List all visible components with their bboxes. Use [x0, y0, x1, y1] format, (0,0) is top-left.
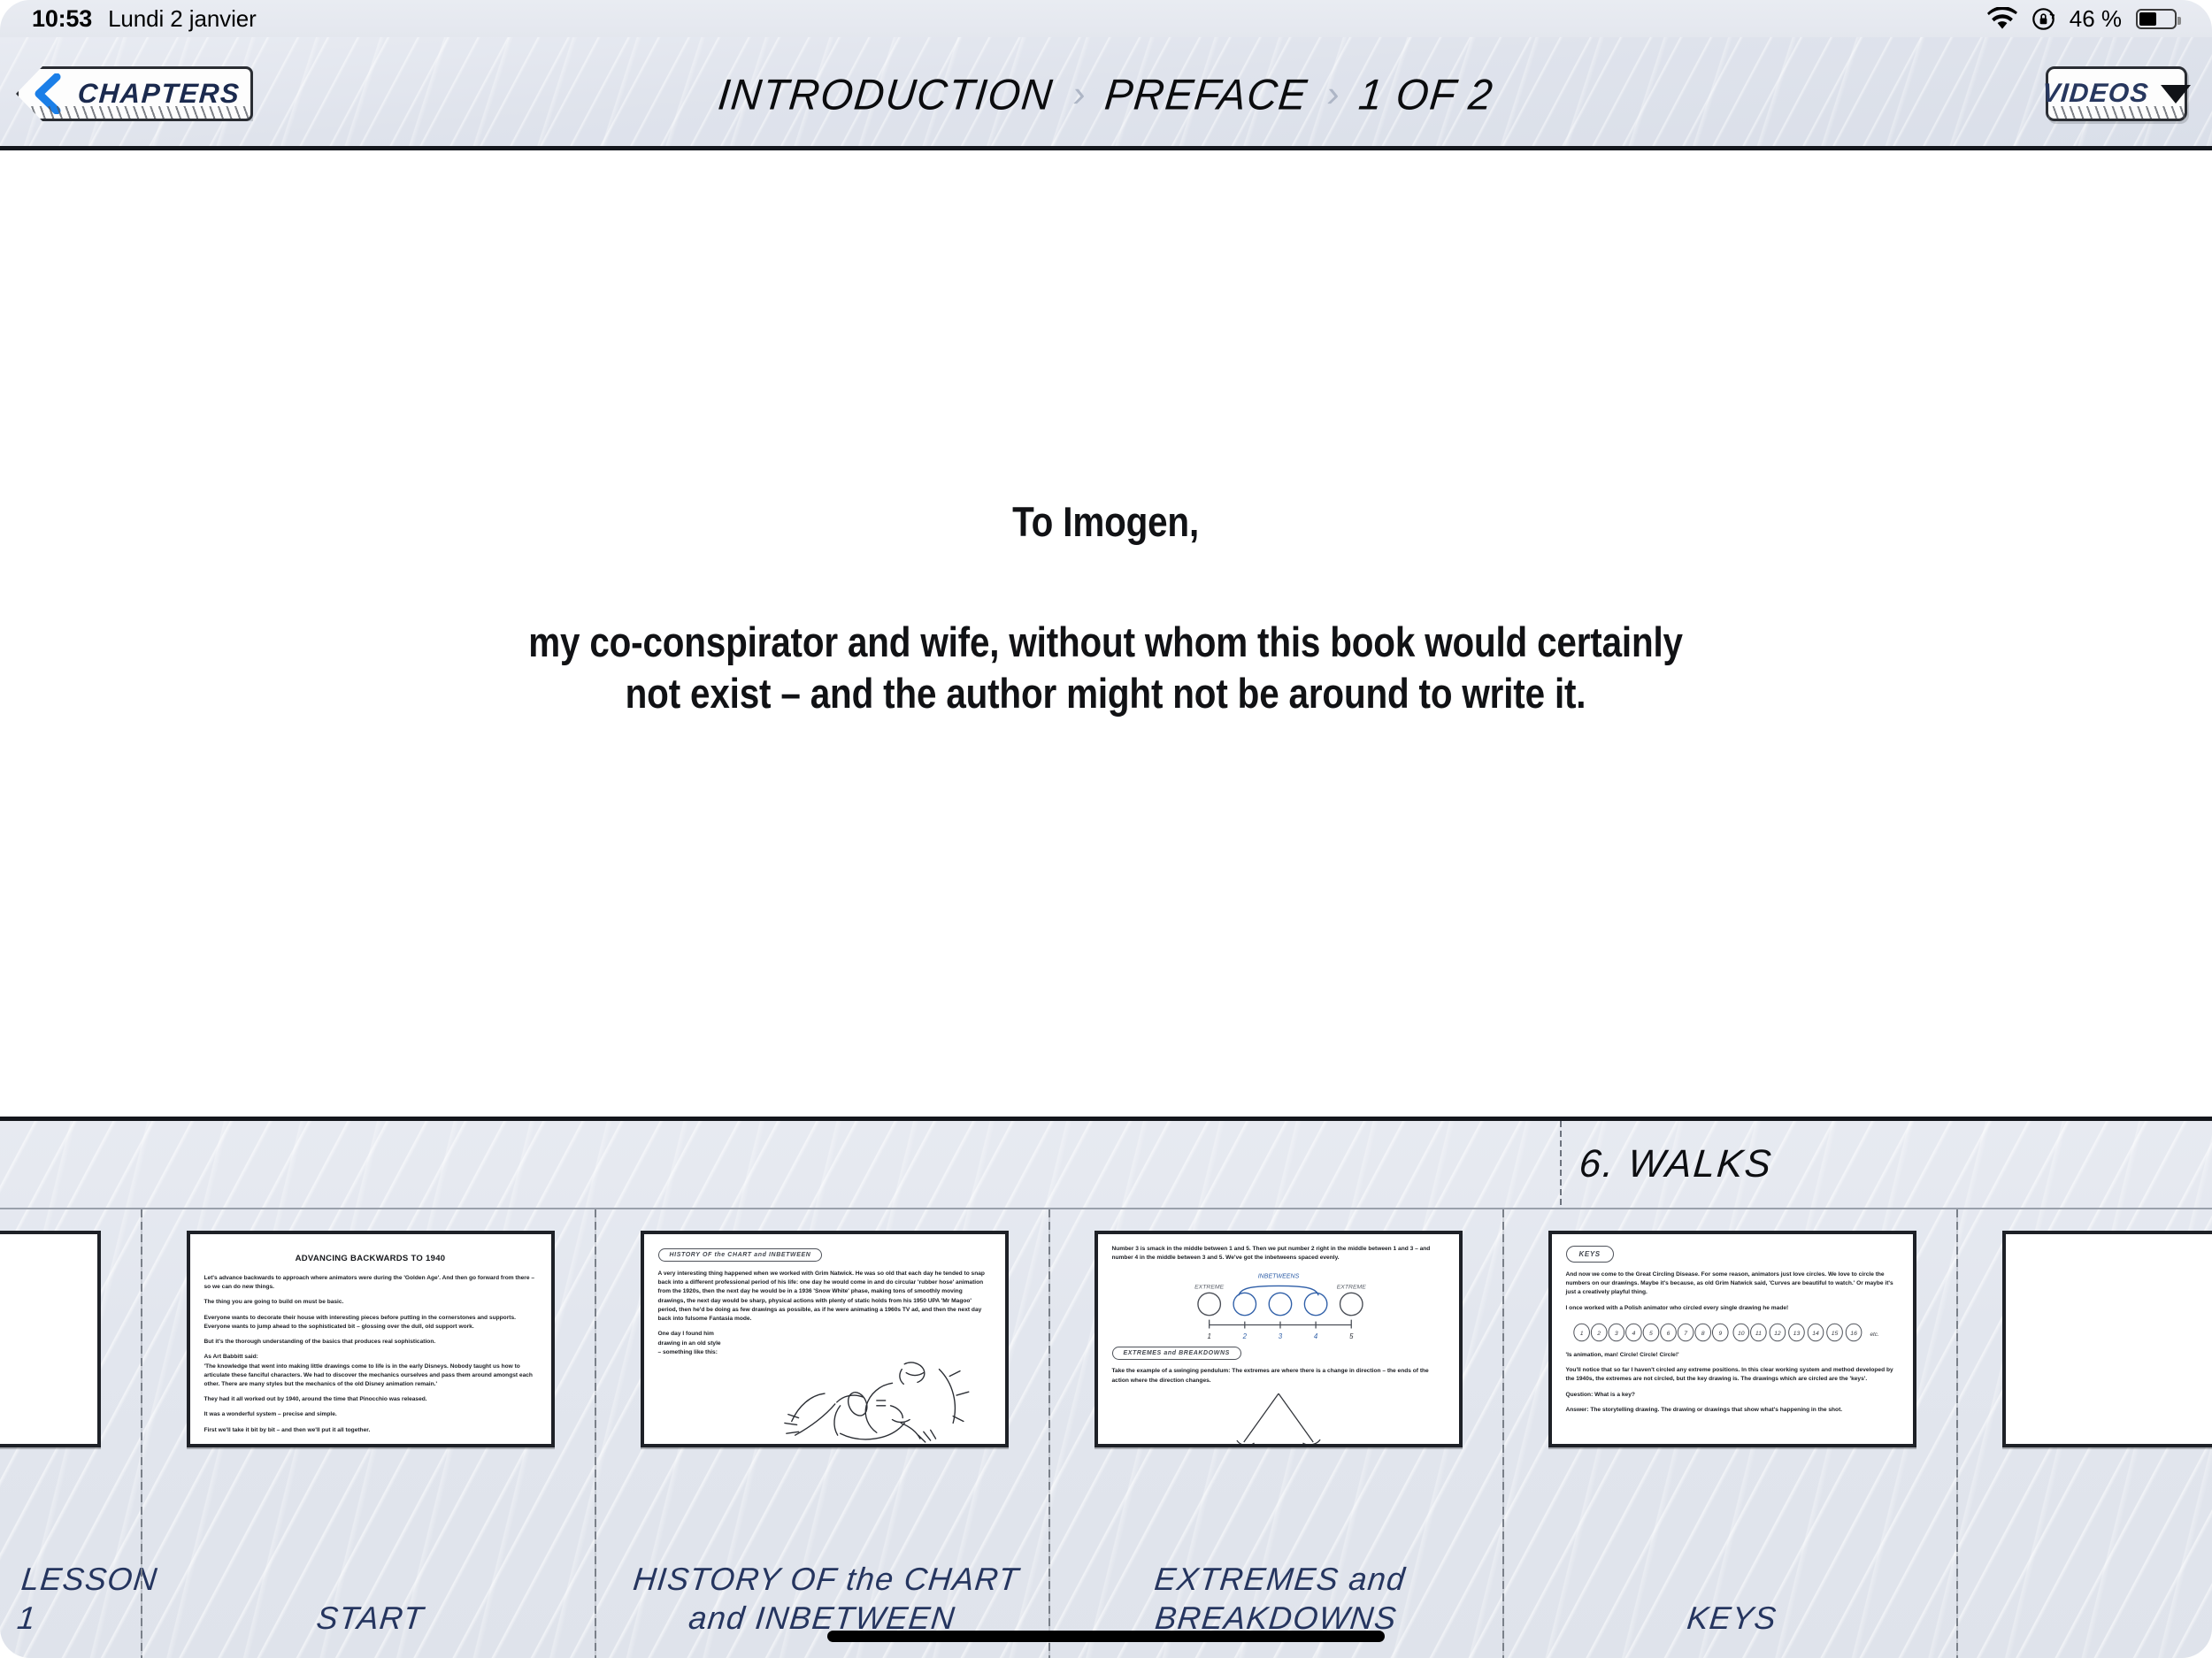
thumbnail-cell-start[interactable]: ADVANCING BACKWARDS TO 1940 Let's advanc… [144, 1209, 598, 1658]
svg-text:INBETWEENS: INBETWEENS [1257, 1274, 1299, 1280]
svg-text:4: 4 [1632, 1331, 1635, 1337]
thumbnail-cell-extremes-and-breakdowns[interactable]: Number 3 is smack in the middle between … [1052, 1209, 1506, 1658]
page-thumbnail[interactable]: ADVANCING BACKWARDS TO 1940 Let's advanc… [187, 1231, 555, 1447]
thumb-title: ADVANCING BACKWARDS TO 1940 [204, 1254, 537, 1263]
thumb-paragraph: 'Is animation, man! Circle! Circle! Circ… [1566, 1351, 1899, 1360]
sketch-hatching [2048, 106, 2185, 119]
thumb-paragraph: tists. I had the habit of listening to c… [0, 1305, 83, 1314]
svg-text:10: 10 [1737, 1331, 1744, 1337]
svg-text:4: 4 [1313, 1333, 1317, 1341]
dedication-block: To Imogen, my co-conspirator and wife, w… [0, 150, 2212, 1117]
thumbnail-label: START [142, 1599, 599, 1638]
thumb-paragraph: A very interesting thing happened when w… [658, 1270, 991, 1324]
svg-text:3: 3 [1614, 1331, 1617, 1337]
thumb-section-bubble: KEYS [1566, 1246, 1614, 1263]
battery-percent: 46 % [2070, 5, 2122, 33]
circled-numbers-row: 123 456 789 101112 131415 16 etc. [1566, 1319, 1899, 1346]
thumb-paragraph: One day I found him drawing in an old st… [658, 1330, 991, 1357]
thumb-paragraph: Question: What is a key? [1566, 1391, 1899, 1400]
section-divider-tick [1560, 1121, 1562, 1208]
page-thumbnail-filmstrip[interactable]: 6. WALKS ONE e off your head phones! Tur… [0, 1117, 2212, 1658]
svg-text:EXTREME: EXTREME [1336, 1285, 1366, 1291]
ipad-screen: 10:53 Lundi 2 janvier 46 % [0, 0, 2212, 1658]
videos-button-label: VIDEOS [2040, 79, 2150, 109]
thumb-paragraph: 'The knowledge that went into making lit… [204, 1362, 537, 1390]
thumb-paragraph: Take the example of a swinging pendulum:… [1112, 1367, 1445, 1385]
svg-text:2: 2 [1596, 1331, 1601, 1337]
caret-down-icon [2161, 85, 2191, 104]
home-indicator[interactable] [827, 1631, 1385, 1642]
chapters-button-label: CHAPTERS [77, 78, 242, 110]
breadcrumb-separator: › [1325, 73, 1341, 115]
thumb-paragraph: I once worked with a Polish animator who… [1566, 1304, 1899, 1313]
thumb-paragraph: Let's advance backwards to approach wher… [204, 1274, 537, 1292]
svg-text:etc.: etc. [1870, 1332, 1878, 1338]
videos-dropdown-button[interactable]: VIDEOS [2046, 66, 2187, 121]
svg-text:5: 5 [1349, 1333, 1354, 1341]
thumb-paragraph: Answer: The storytelling drawing. The dr… [1566, 1406, 1899, 1415]
page-thumbnail[interactable]: KEYS And now we come to the Great Circli… [1548, 1231, 1916, 1447]
thumbnail-label: KEYS [1504, 1599, 1961, 1638]
thumb-paragraph: They had it all worked out by 1940, arou… [204, 1395, 537, 1404]
thumb-paragraph: Number 3 is smack in the middle between … [1112, 1245, 1445, 1263]
svg-text:7: 7 [1684, 1331, 1688, 1337]
thumb-paragraph: The thing you are going to build on must… [204, 1298, 537, 1307]
thumbnail-cell-lesson-1[interactable]: ONE e off your head phones! Turn off the… [0, 1209, 144, 1658]
cartoon-character-sketch-icon [644, 1355, 1005, 1444]
thumb-paragraph: But it's the thorough understanding of t… [204, 1338, 537, 1347]
breadcrumb: INTRODUCTION › PREFACE › 1 OF 2 [0, 37, 2212, 150]
thumb-paragraph: As Art Babbitt said: [204, 1353, 537, 1362]
svg-text:EXTREME: EXTREME [1194, 1285, 1225, 1291]
breadcrumb-item-page: 1 OF 2 [1356, 68, 1496, 119]
breadcrumb-item-introduction[interactable]: INTRODUCTION [716, 68, 1056, 119]
thumbnail-label: LESSON 1 [0, 1560, 147, 1638]
page-thumbnail[interactable] [2002, 1231, 2212, 1447]
svg-text:1: 1 [1207, 1333, 1210, 1341]
svg-text:15: 15 [1831, 1331, 1838, 1337]
thumb-section-bubble: EXTREMES and BREAKDOWNS [1112, 1347, 1241, 1360]
thumbnail-cell-keys[interactable]: KEYS And now we come to the Great Circli… [1506, 1209, 1960, 1658]
thumbnail-label: HISTORY OF the CHART and INBETWEEN [594, 1560, 1054, 1638]
status-bar-left: 10:53 Lundi 2 janvier [32, 5, 257, 33]
dedication-body: my co-conspirator and wife, without whom… [529, 617, 1684, 718]
status-time: 10:53 [32, 5, 92, 33]
pendulum-triangle-icon [1098, 1391, 1459, 1444]
svg-text:12: 12 [1774, 1331, 1781, 1337]
filmstrip-cells: ONE e off your head phones! Turn off the… [0, 1209, 2212, 1658]
thumb-paragraph: You'll notice that so far I haven't circ… [1566, 1366, 1899, 1384]
thumb-section-bubble: HISTORY OF the CHART and INBETWEEN [658, 1248, 823, 1262]
svg-text:9: 9 [1718, 1331, 1722, 1337]
page-thumbnail[interactable]: HISTORY OF the CHART and INBETWEEN A ver… [641, 1231, 1009, 1447]
thumbnail-cell-history-of-the-chart[interactable]: HISTORY OF the CHART and INBETWEEN A ver… [598, 1209, 1052, 1658]
svg-text:8: 8 [1701, 1331, 1704, 1337]
thumbnail-label: EXTREMES and BREAKDOWNS [1048, 1560, 1508, 1638]
svg-text:6: 6 [1666, 1331, 1670, 1337]
rotation-lock-icon [2032, 7, 2055, 31]
inbetweens-diagram: INBETWEENS EXTREME EXTREME [1112, 1269, 1445, 1341]
page-content[interactable]: To Imogen, my co-conspirator and wife, w… [0, 150, 2212, 1117]
thumb-paragraph: First we'll take it bit by bit – and the… [204, 1426, 537, 1435]
filmstrip-section-header: 6. WALKS [0, 1121, 2212, 1209]
svg-text:5: 5 [1649, 1331, 1653, 1337]
navigation-bar: CHAPTERS INTRODUCTION › PREFACE › 1 OF 2… [0, 37, 2212, 150]
thumb-paragraph: e off your head phones! Turn off the rad… [0, 1273, 83, 1282]
page-thumbnail[interactable]: Number 3 is smack in the middle between … [1094, 1231, 1463, 1447]
svg-text:11: 11 [1755, 1331, 1761, 1337]
thumb-paragraph: It was a wonderful system – precise and … [204, 1410, 537, 1419]
thumbnail-cell-next[interactable] [1960, 1209, 2212, 1658]
filmstrip-section-title: 6. WALKS [1578, 1142, 1775, 1186]
wifi-icon [1987, 7, 2017, 30]
thumb-paragraph: k. [0, 1288, 83, 1297]
thumb-paragraph: And now we come to the Great Circling Di… [1566, 1270, 1899, 1298]
page-thumbnail[interactable]: ONE e off your head phones! Turn off the… [0, 1231, 101, 1447]
svg-text:13: 13 [1793, 1331, 1800, 1337]
svg-text:3: 3 [1278, 1333, 1282, 1341]
breadcrumb-separator: › [1071, 73, 1087, 115]
svg-text:14: 14 [1812, 1331, 1819, 1337]
sketch-hatching [19, 106, 250, 119]
animator-at-desk-drawing-icon: PUT, DO YOU EVER LISTEN TO CLASSICAL MUS… [0, 1338, 97, 1444]
svg-text:2: 2 [1241, 1333, 1247, 1341]
dedication-salutation: To Imogen, [1013, 497, 1200, 546]
svg-text:16: 16 [1850, 1331, 1857, 1337]
chapters-back-button[interactable]: CHAPTERS [16, 66, 253, 121]
thumb-paragraph: Everyone wants to decorate their house w… [204, 1314, 537, 1332]
breadcrumb-item-preface[interactable]: PREFACE [1102, 68, 1310, 119]
thumb-paragraph: Milt Kahl I innocently asked: [0, 1320, 83, 1329]
battery-icon [2136, 9, 2177, 29]
status-bar-right: 46 % [1987, 5, 2177, 33]
thumb-title: ONE [0, 1247, 83, 1255]
status-bar: 10:53 Lundi 2 janvier 46 % [0, 0, 2212, 37]
svg-text:1: 1 [1579, 1331, 1583, 1337]
status-date: Lundi 2 janvier [108, 5, 257, 33]
